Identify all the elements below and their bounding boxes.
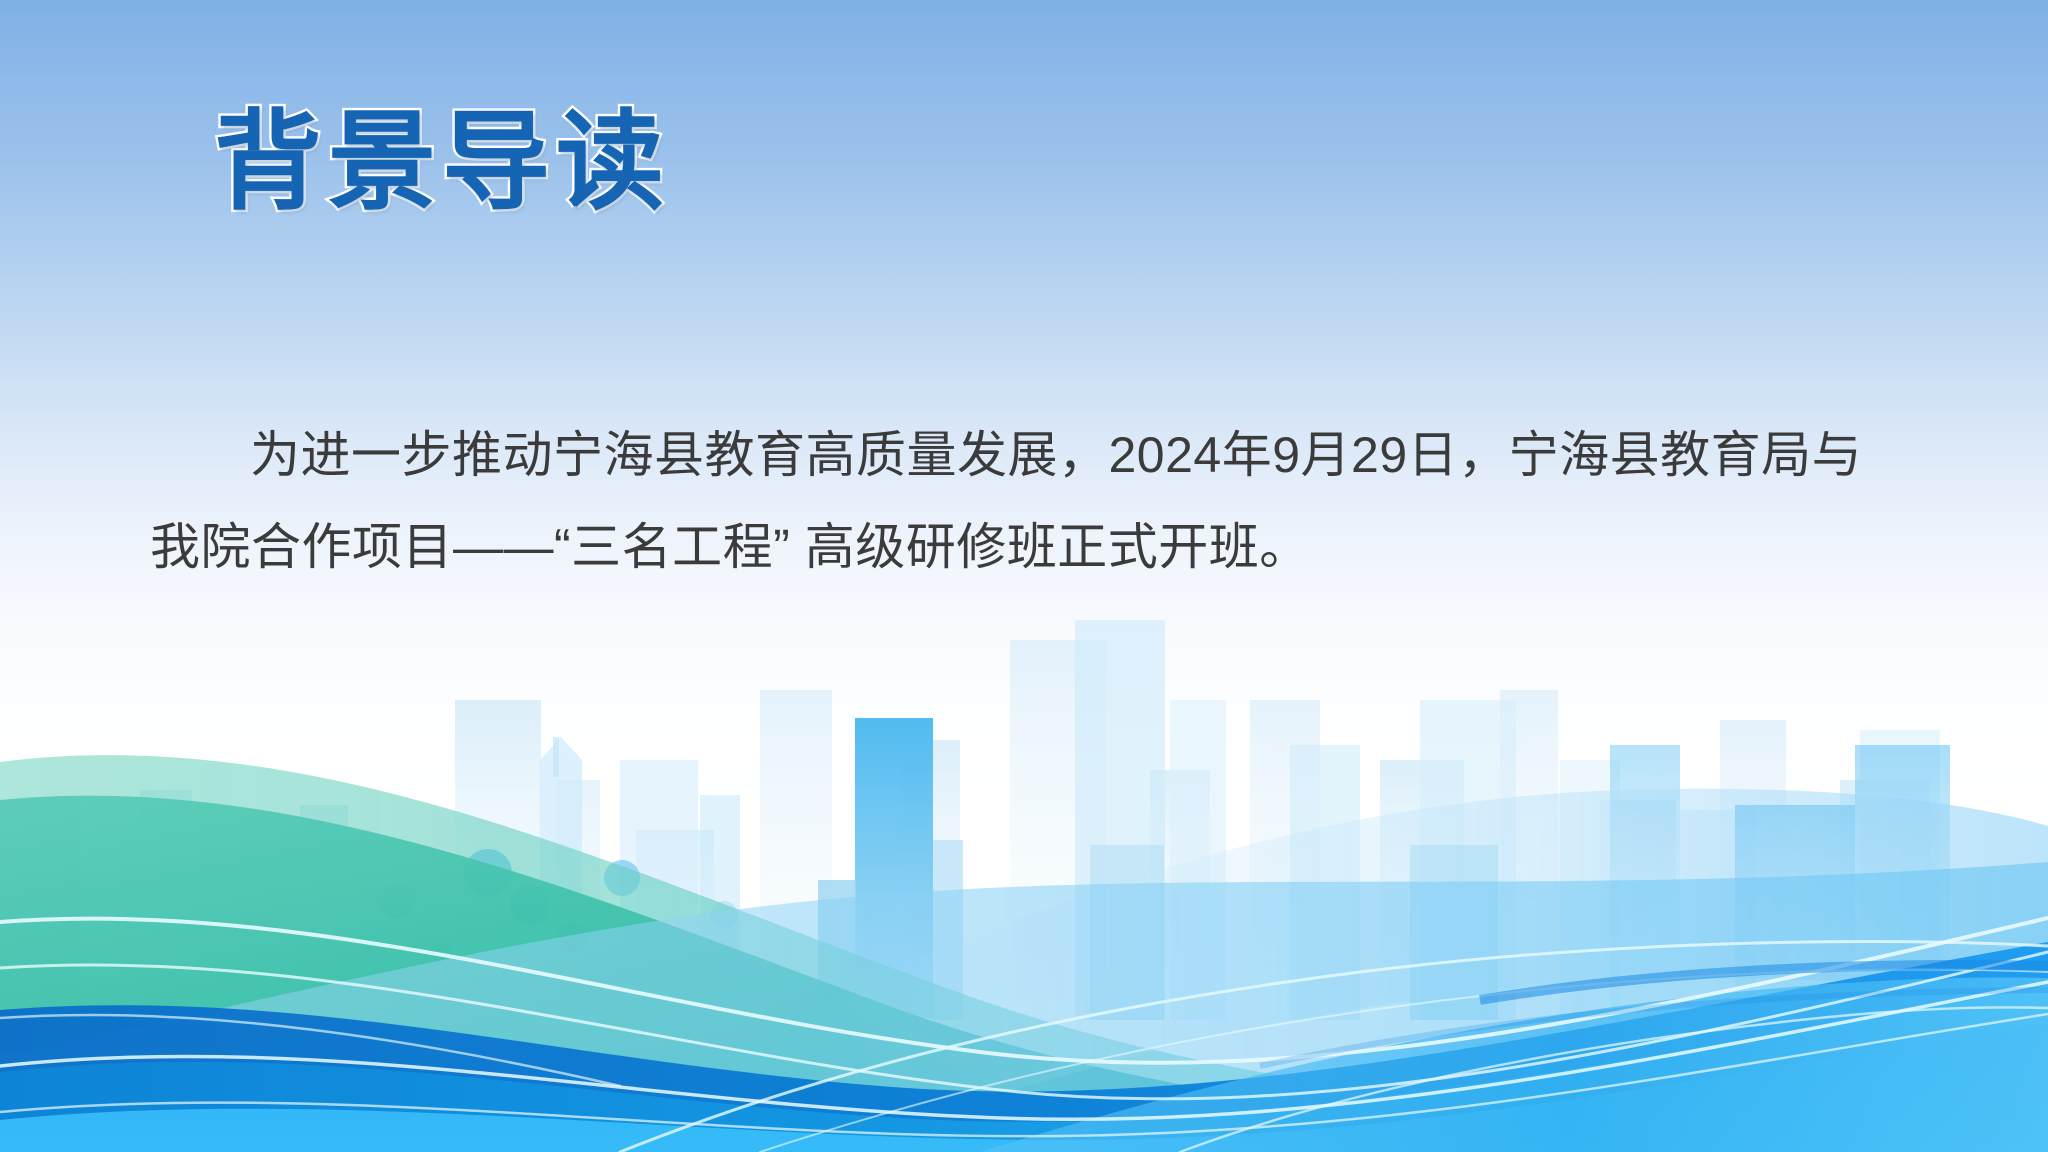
bubble-decorations — [342, 849, 738, 968]
title-block: 背景导读 背景导读 — [214, 105, 670, 219]
wave-blue-light-front — [980, 978, 2048, 1152]
wave-blue-foreground — [0, 1022, 2048, 1152]
wave-pale-sheet-right — [820, 789, 2048, 1140]
city-skyline-far — [60, 640, 1930, 1000]
wave-green-main — [0, 796, 2048, 1152]
wave-blue-deep — [0, 942, 2048, 1152]
body-line-1: 为进一步推动宁海县教育高质量发展，2024年9月29日，宁海县教育局与 — [150, 418, 1910, 492]
wave-blue-mid — [0, 986, 2048, 1152]
body-line-2: 我院合作项目——“三名工程” 高级研修班正式开班。 — [150, 510, 1910, 584]
body-text-block: 为进一步推动宁海县教育高质量发展，2024年9月29日，宁海县教育局与 我院合作… — [150, 418, 1910, 602]
city-skyline-accent — [818, 718, 1950, 1020]
wave-green-pale — [0, 755, 2048, 1152]
city-skyline-mid — [505, 620, 1940, 1020]
wave-highlight-lines — [0, 918, 2048, 1152]
slide-canvas: 背景导读 背景导读 为进一步推动宁海县教育高质量发展，2024年9月29日，宁海… — [0, 0, 2048, 1152]
wave-blue-light-top — [0, 862, 2048, 1152]
page-title-fill: 背景导读 — [214, 105, 670, 219]
wave-accent-ribbons — [1260, 965, 2048, 1066]
